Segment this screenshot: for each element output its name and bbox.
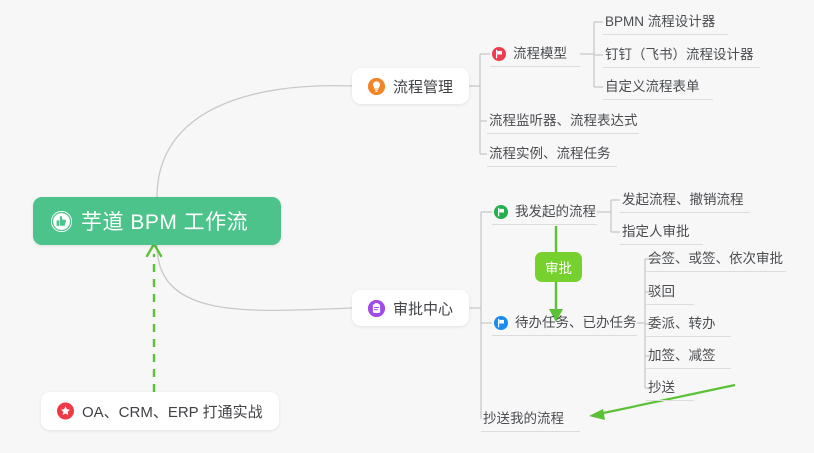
node-custom-process-form[interactable]: 自定义流程表单 bbox=[603, 74, 713, 100]
node-process-model[interactable]: 流程模型 bbox=[490, 41, 580, 67]
integration-note[interactable]: OA、CRM、ERP 打通实战 bbox=[41, 392, 279, 430]
node-reject-label: 驳回 bbox=[648, 285, 675, 299]
approval-tag: 审批 bbox=[535, 252, 582, 282]
flag-icon bbox=[492, 47, 506, 61]
node-assignee-approval[interactable]: 指定人审批 bbox=[620, 219, 703, 245]
root-node[interactable]: 芋道 BPM 工作流 bbox=[33, 197, 281, 245]
branch-approval-center-label: 审批中心 bbox=[393, 298, 453, 319]
node-carbon-copy-label: 抄送 bbox=[648, 381, 675, 395]
node-process-instance-task[interactable]: 流程实例、流程任务 bbox=[487, 141, 617, 167]
node-cc-to-me-process-label: 抄送我的流程 bbox=[483, 412, 564, 426]
integration-note-arrow bbox=[147, 244, 161, 392]
node-dingtalk-feishu-designer[interactable]: 钉钉（飞书）流程设计器 bbox=[603, 42, 760, 68]
node-my-initiated-process[interactable]: 我发起的流程 bbox=[492, 199, 597, 225]
node-process-listener-expression-label: 流程监听器、流程表达式 bbox=[489, 114, 638, 128]
branch-process-management-label: 流程管理 bbox=[393, 76, 453, 97]
node-process-listener-expression[interactable]: 流程监听器、流程表达式 bbox=[487, 108, 639, 134]
flag-icon bbox=[494, 205, 508, 219]
approval-tag-label: 审批 bbox=[545, 257, 572, 277]
node-delegate-transfer-label: 委派、转办 bbox=[648, 317, 716, 331]
node-bpmn-designer-label: BPMN 流程设计器 bbox=[605, 15, 715, 29]
node-todo-done-tasks[interactable]: 待办任务、已办任务 bbox=[492, 310, 637, 336]
node-bpmn-designer[interactable]: BPMN 流程设计器 bbox=[603, 9, 728, 35]
branch-process-management[interactable]: 流程管理 bbox=[352, 68, 469, 104]
wire-root-to-process-management bbox=[157, 86, 352, 197]
wire-root-to-approval-center bbox=[157, 245, 352, 310]
lightbulb-icon bbox=[368, 78, 385, 95]
thumbs-up-icon bbox=[51, 211, 72, 232]
integration-note-label: OA、CRM、ERP 打通实战 bbox=[82, 401, 263, 422]
node-dingtalk-feishu-designer-label: 钉钉（飞书）流程设计器 bbox=[605, 48, 754, 62]
mindmap-canvas: 芋道 BPM 工作流 流程管理 流程模型 BPMN 流程设计器 钉钉（飞书）流程 bbox=[0, 0, 814, 453]
node-add-reduce-sign[interactable]: 加签、减签 bbox=[646, 343, 731, 369]
node-start-cancel-process-label: 发起流程、撤销流程 bbox=[622, 193, 744, 207]
node-assignee-approval-label: 指定人审批 bbox=[622, 225, 690, 239]
root-label: 芋道 BPM 工作流 bbox=[81, 206, 248, 236]
node-countersign-orsign-sequential[interactable]: 会签、或签、依次审批 bbox=[646, 246, 786, 272]
node-process-model-label: 流程模型 bbox=[513, 47, 567, 61]
node-cc-to-me-process[interactable]: 抄送我的流程 bbox=[481, 406, 580, 432]
node-process-instance-task-label: 流程实例、流程任务 bbox=[489, 147, 611, 161]
node-todo-done-tasks-label: 待办任务、已办任务 bbox=[515, 316, 637, 330]
node-custom-process-form-label: 自定义流程表单 bbox=[605, 80, 700, 94]
branch-approval-center[interactable]: 审批中心 bbox=[352, 290, 469, 326]
clipboard-icon bbox=[368, 300, 385, 317]
star-icon bbox=[57, 403, 74, 420]
node-reject[interactable]: 驳回 bbox=[646, 279, 694, 305]
node-my-initiated-process-label: 我发起的流程 bbox=[515, 205, 596, 219]
node-countersign-orsign-sequential-label: 会签、或签、依次审批 bbox=[648, 252, 783, 266]
node-add-reduce-sign-label: 加签、减签 bbox=[648, 349, 716, 363]
node-carbon-copy[interactable]: 抄送 bbox=[646, 375, 694, 401]
node-delegate-transfer[interactable]: 委派、转办 bbox=[646, 311, 731, 337]
flag-icon bbox=[494, 316, 508, 330]
node-start-cancel-process[interactable]: 发起流程、撤销流程 bbox=[620, 187, 750, 213]
